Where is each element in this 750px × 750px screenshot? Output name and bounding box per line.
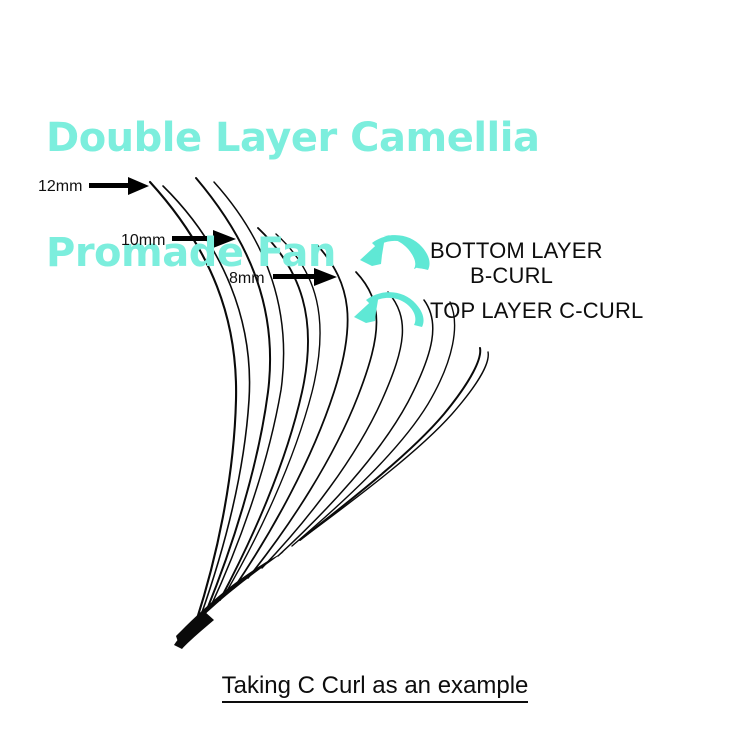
page-title-line-1: Double Layer Camellia [46, 119, 539, 157]
bottom-layer-label-line-1: BOTTOM LAYER [430, 238, 603, 264]
length-label-10mm: 10mm [121, 232, 165, 250]
bottom-layer-label-line-2: B-CURL [470, 263, 553, 289]
length-label-8mm: 8mm [229, 270, 265, 288]
lash-strand-9b [304, 352, 488, 537]
lash-strand-9 [300, 348, 480, 540]
lash-base-stem-tip [174, 611, 214, 649]
length-label-12mm: 12mm [38, 178, 82, 196]
top-layer-label: TOP LAYER C-CURL [430, 298, 643, 324]
lash-strand-8 [292, 302, 455, 546]
page-title: Double Layer Camellia Promade Fan [46, 42, 539, 311]
caption-text: Taking C Curl as an example [222, 672, 529, 703]
caption: Taking C Curl as an example [0, 672, 750, 700]
